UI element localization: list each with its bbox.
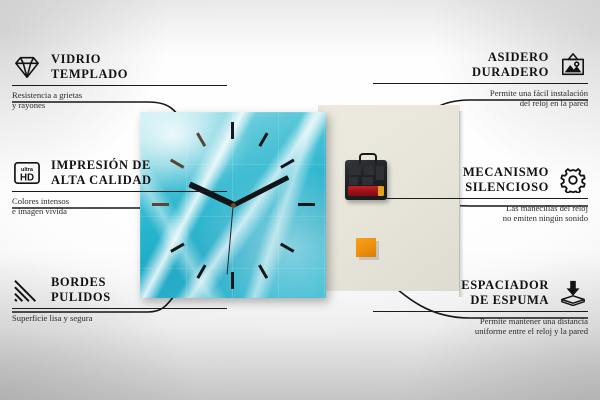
foam-spacer [356,238,376,257]
feature-title-line1: VIDRIO [51,52,128,67]
feature-desc-line2: del reloj en la pared [373,98,588,108]
feature-desc-line2: e imagen vívida [12,206,227,216]
feature-description: Resistencia a grietas y rayones [12,90,227,111]
feature-header: VIDRIO TEMPLADO [12,52,227,81]
feature-title-line2: DURADERO [472,65,549,80]
feature-desc-line1: Colores intensos [12,196,227,206]
feature-impresion-alta-calidad: ultra HD IMPRESIÓN DE ALTA CALIDAD Color… [12,158,227,217]
feature-title-line2: PULIDOS [51,290,111,305]
feature-divider [12,191,227,192]
clock-center-pivot [231,203,236,208]
feature-title-line2: SILENCIOSO [463,180,549,195]
feature-title-line1: MECANISMO [463,165,549,180]
gear-icon [558,167,588,193]
feature-description: Permite una fácil instalación del reloj … [373,88,588,109]
feature-title-line1: ESPACIADOR [461,278,549,293]
hanger-hook-icon [359,153,377,164]
feature-divider [373,198,588,199]
feature-title-line2: ALTA CALIDAD [51,173,152,188]
feature-header: MECANISMO SILENCIOSO [373,165,588,194]
feature-title-line2: DE ESPUMA [461,293,549,308]
feature-header: ultra HD IMPRESIÓN DE ALTA CALIDAD [12,158,227,187]
feature-title-line1: ASIDERO [472,50,549,65]
feature-header: ESPACIADOR DE ESPUMA [373,278,588,307]
feature-desc-line1: Las manecillas del reloj [373,203,588,213]
feature-description: Permite mantener una distancia uniforme … [373,316,588,337]
clock-tick [231,272,234,289]
feature-header: BORDES PULIDOS [12,275,227,304]
feature-espaciador-de-espuma: ESPACIADOR DE ESPUMA Permite mantener un… [373,278,588,337]
feature-desc-line1: Resistencia a grietas [12,90,227,100]
picture-hanger-icon [558,52,588,78]
feature-vidrio-templado: VIDRIO TEMPLADO Resistencia a grietas y … [12,52,227,111]
feature-divider [373,311,588,312]
feature-description: Las manecillas del reloj no emiten ningú… [373,203,588,224]
feature-desc-line2: y rayones [12,100,227,110]
feature-title: ASIDERO DURADERO [472,50,549,79]
movement-detail [349,166,361,175]
feature-bordes-pulidos: BORDES PULIDOS Superficie lisa y segura [12,275,227,323]
feature-desc-line1: Superficie lisa y segura [12,313,227,323]
feature-divider [12,85,227,86]
feature-header: ASIDERO DURADERO [373,50,588,79]
feature-description: Superficie lisa y segura [12,313,227,323]
polished-edge-icon [12,277,42,303]
feature-title: VIDRIO TEMPLADO [51,52,128,81]
movement-detail [362,177,373,185]
ultra-hd-icon: ultra HD [12,160,42,186]
feature-description: Colores intensos e imagen vívida [12,196,227,217]
feature-title: BORDES PULIDOS [51,275,111,304]
feature-desc-line2: uniforme entre el reloj y la pared [373,326,588,336]
feature-title: MECANISMO SILENCIOSO [463,165,549,194]
feature-divider [373,83,588,84]
movement-detail [349,177,358,185]
feature-desc-line1: Permite mantener una distancia [373,316,588,326]
clock-tick [231,122,234,139]
feature-title-line1: BORDES [51,275,111,290]
feature-title: IMPRESIÓN DE ALTA CALIDAD [51,158,152,187]
feature-title-line2: TEMPLADO [51,67,128,82]
foam-spacer-icon [558,280,588,306]
feature-title: ESPACIADOR DE ESPUMA [461,278,549,307]
feature-mecanismo-silencioso: MECANISMO SILENCIOSO Las manecillas del … [373,165,588,224]
clock-tick [298,203,315,206]
svg-text:HD: HD [20,172,34,183]
feature-desc-line1: Permite una fácil instalación [373,88,588,98]
infographic-canvas: VIDRIO TEMPLADO Resistencia a grietas y … [0,0,600,400]
feature-desc-line2: no emiten ningún sonido [373,213,588,223]
feature-title-line1: IMPRESIÓN DE [51,158,152,173]
diamond-icon [12,54,42,80]
feature-asidero-duradero: ASIDERO DURADERO Permite una fácil insta… [373,50,588,109]
feature-divider [12,308,227,309]
